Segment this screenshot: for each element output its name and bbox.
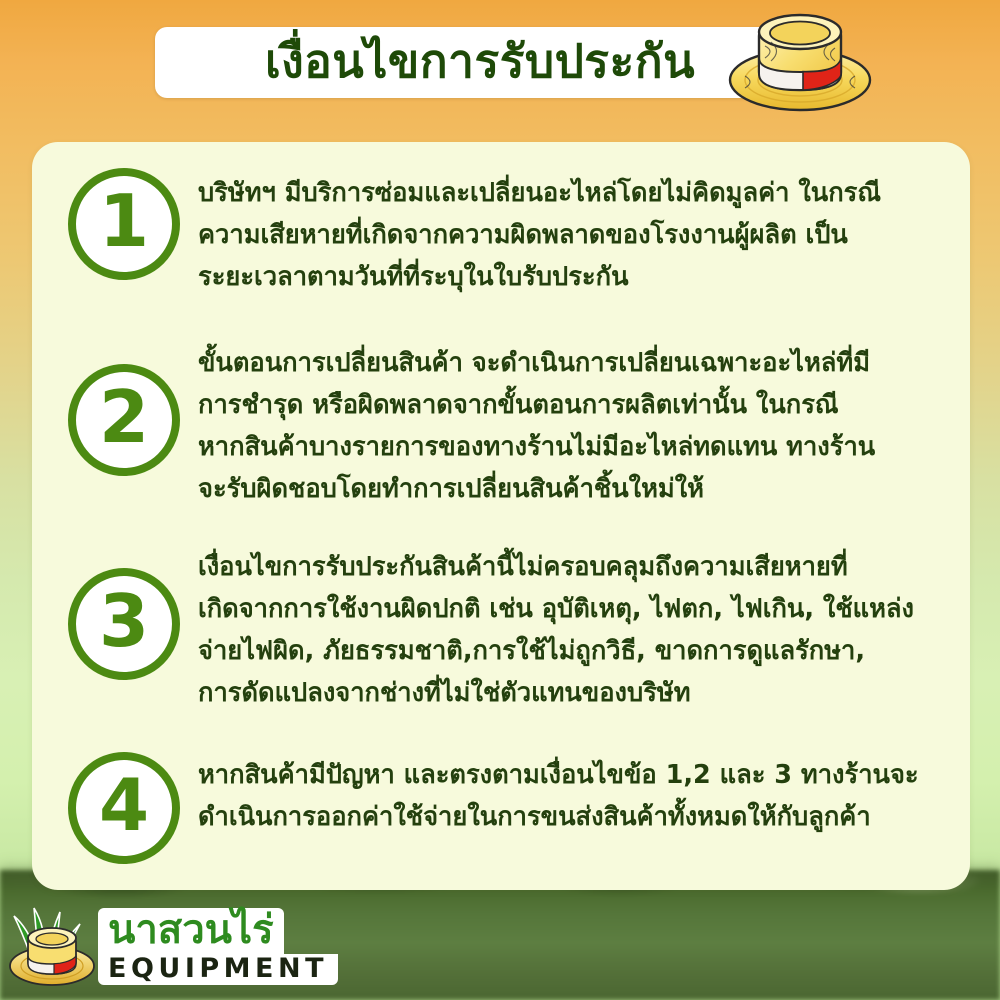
item-text: บริษัทฯ มีบริการซ่อมและเปลี่ยนอะไหล่โดยไ…: [198, 168, 940, 298]
list-item: 2 ขั้นตอนการเปลี่ยนสินค้า จะดำเนินการเปล…: [68, 338, 940, 510]
conditions-list: 1 บริษัทฯ มีบริการซ่อมและเปลี่ยนอะไหล่โด…: [32, 142, 970, 890]
item-text-line: บริษัทฯ มีบริการซ่อมและเปลี่ยนอะไหล่โดยไ…: [198, 172, 940, 214]
item-number-badge: 3: [68, 568, 180, 680]
item-text-line: เกิดจากการใช้งานผิดปกติ เช่น อุบัติเหตุ,…: [198, 588, 940, 630]
item-text-line: การชำรุด หรือผิดพลาดจากขั้นตอนการผลิตเท่…: [198, 384, 940, 426]
logo-english-name: EQUIPMENT: [98, 954, 338, 985]
item-text-line: หากสินค้าบางรายการของทางร้านไม่มีอะไหล่ท…: [198, 426, 940, 468]
item-text-line: จ่ายไฟผิด, ภัยธรรมชาติ,การใช้ไม่ถูกวิธี,…: [198, 630, 940, 672]
brand-logo: นาสวนไร่ EQUIPMENT: [6, 898, 296, 994]
infographic-stage: เงื่อนไขการรับประกัน: [0, 0, 1000, 1000]
header-banner: เงื่อนไขการรับประกัน: [155, 27, 805, 98]
item-text-line: ระยะเวลาตามวันที่ที่ระบุในใบรับประกัน: [198, 256, 940, 298]
page-title: เงื่อนไขการรับประกัน: [265, 38, 695, 88]
item-text-line: ความเสียหายที่เกิดจากความผิดพลาดของโรงงา…: [198, 214, 940, 256]
item-text-line: เงื่อนไขการรับประกันสินค้านี้ไม่ครอบคลุม…: [198, 546, 940, 588]
logo-thai-name: นาสวนไร่: [98, 908, 284, 954]
item-text-line: หากสินค้ามีปัญหา และตรงตามเงื่อนไขข้อ 1,…: [198, 754, 940, 796]
straw-hat-icon: [725, 6, 875, 114]
item-number-badge: 1: [68, 168, 180, 280]
item-text: ขั้นตอนการเปลี่ยนสินค้า จะดำเนินการเปลี่…: [198, 338, 940, 510]
list-item: 4 หากสินค้ามีปัญหา และตรงตามเงื่อนไขข้อ …: [68, 750, 940, 864]
logo-wordmark: นาสวนไร่ EQUIPMENT: [98, 908, 338, 985]
item-text: หากสินค้ามีปัญหา และตรงตามเงื่อนไขข้อ 1,…: [198, 750, 940, 838]
list-item: 1 บริษัทฯ มีบริการซ่อมและเปลี่ยนอะไหล่โด…: [68, 168, 940, 298]
item-text-line: ขั้นตอนการเปลี่ยนสินค้า จะดำเนินการเปลี่…: [198, 342, 940, 384]
conditions-card: 1 บริษัทฯ มีบริการซ่อมและเปลี่ยนอะไหล่โด…: [32, 142, 970, 890]
item-number-badge: 2: [68, 364, 180, 476]
straw-hat-with-grass-icon: [6, 900, 102, 992]
item-text-line: ดำเนินการออกค่าใช้จ่ายในการขนส่งสินค้าทั…: [198, 796, 940, 838]
list-item: 3 เงื่อนไขการรับประกันสินค้านี้ไม่ครอบคล…: [68, 542, 940, 714]
item-text: เงื่อนไขการรับประกันสินค้านี้ไม่ครอบคลุม…: [198, 542, 940, 714]
item-text-line: การดัดแปลงจากช่างที่ไม่ใช่ตัวแทนของบริษั…: [198, 672, 940, 714]
item-text-line: จะรับผิดชอบโดยทำการเปลี่ยนสินค้าชิ้นใหม่…: [198, 468, 940, 510]
item-number-badge: 4: [68, 752, 180, 864]
